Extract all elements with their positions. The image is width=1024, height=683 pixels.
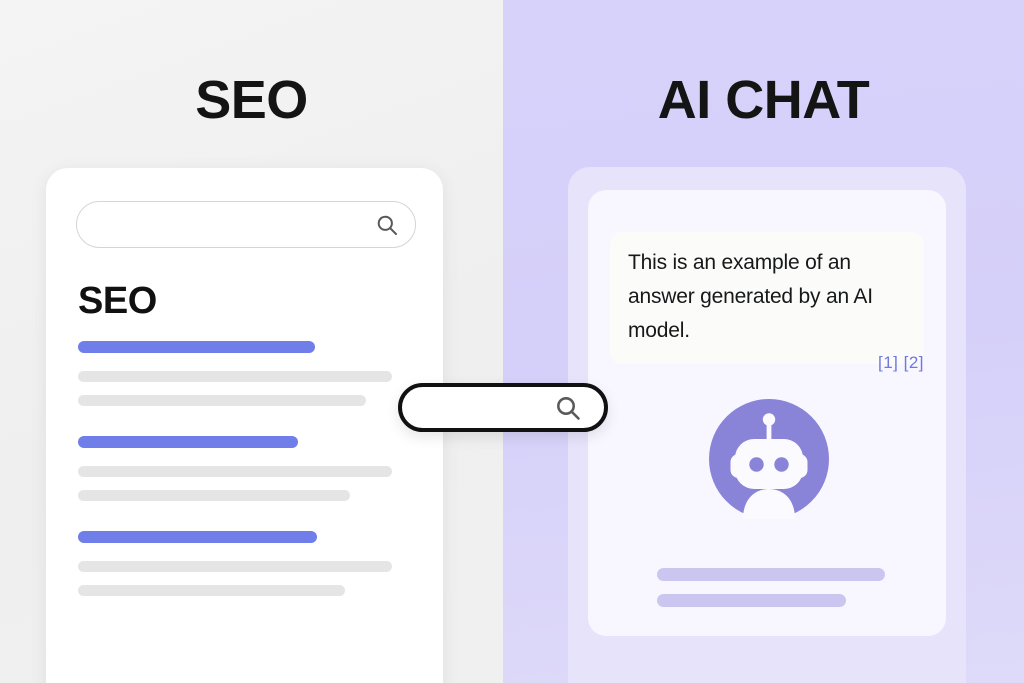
seo-result-link-3[interactable] bbox=[78, 531, 317, 543]
search-icon bbox=[375, 213, 399, 237]
seo-result-card bbox=[46, 168, 443, 683]
center-search-pill[interactable] bbox=[398, 383, 608, 432]
illustration-canvas: SEO AI CHAT SEO This is an example of an… bbox=[0, 0, 1024, 683]
seo-result-line-1a bbox=[78, 371, 392, 382]
ai-skeleton-line-2 bbox=[657, 594, 846, 607]
robot-icon bbox=[709, 399, 829, 519]
seo-result-link-2[interactable] bbox=[78, 436, 298, 448]
ai-answer-citations[interactable]: [1] [2] bbox=[610, 353, 924, 373]
seo-result-line-2a bbox=[78, 466, 392, 477]
seo-panel-heading: SEO bbox=[0, 70, 503, 130]
seo-result-line-3b bbox=[78, 585, 345, 596]
ai-skeleton-line-1 bbox=[657, 568, 885, 581]
seo-result-title: SEO bbox=[78, 279, 157, 323]
seo-result-line-2b bbox=[78, 490, 350, 501]
seo-result-line-3a bbox=[78, 561, 392, 572]
ai-answer-bubble: This is an example of an answer generate… bbox=[610, 232, 924, 364]
seo-search-input[interactable] bbox=[76, 201, 416, 248]
ai-chat-panel-heading: AI CHAT bbox=[503, 70, 1024, 130]
seo-result-link-1[interactable] bbox=[78, 341, 315, 353]
search-icon bbox=[554, 394, 582, 422]
seo-result-line-1b bbox=[78, 395, 366, 406]
